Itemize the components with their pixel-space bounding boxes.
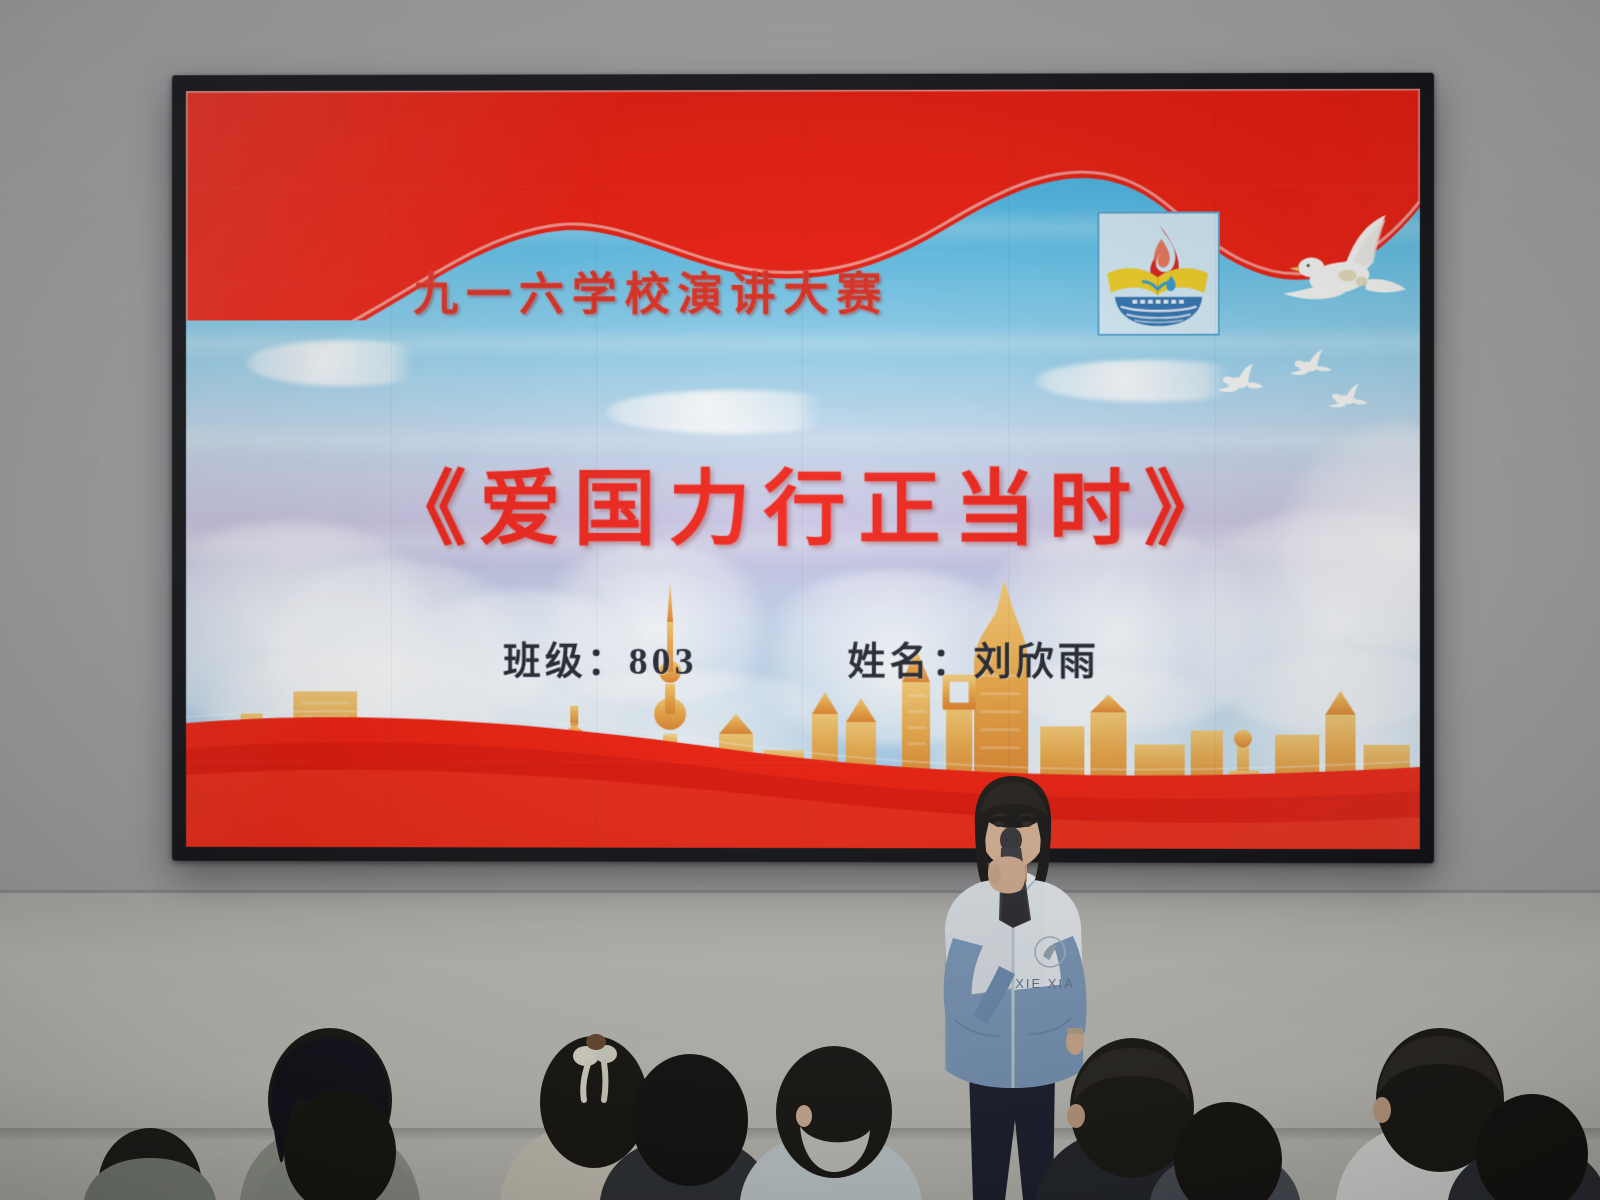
small-dove-icon xyxy=(1327,382,1369,414)
name-label: 姓名：刘欣雨 xyxy=(848,630,1100,685)
slide-main-title: 《爱国力行正当时》 xyxy=(186,442,1420,561)
small-dove-icon xyxy=(1289,348,1333,382)
audience-person-5 xyxy=(740,1046,922,1200)
auditorium-scene: 九一六学校演讲大赛 《爱国力行正当时》 班级：803 姓名：刘欣雨 xyxy=(0,0,1600,1200)
bottom-red-ribbon-graphic xyxy=(186,657,1420,849)
small-dove-icon xyxy=(1217,362,1265,400)
class-label: 班级：803 xyxy=(503,630,698,685)
cloud xyxy=(604,390,864,434)
led-screen-display: 九一六学校演讲大赛 《爱国力行正当时》 班级：803 姓名：刘欣雨 xyxy=(186,89,1420,849)
cloud xyxy=(246,340,445,386)
slide-header-title: 九一六学校演讲大赛 xyxy=(186,257,1420,323)
led-screen-frame: 九一六学校演讲大赛 《爱国力行正当时》 班级：803 姓名：刘欣雨 xyxy=(172,73,1434,864)
audience-person-10 xyxy=(84,1128,216,1200)
audience-row xyxy=(0,990,1600,1200)
audience-silhouettes xyxy=(0,990,1600,1200)
slide-meta-row: 班级：803 姓名：刘欣雨 xyxy=(186,629,1420,685)
jacket-text: XIE XIA xyxy=(1015,976,1075,991)
